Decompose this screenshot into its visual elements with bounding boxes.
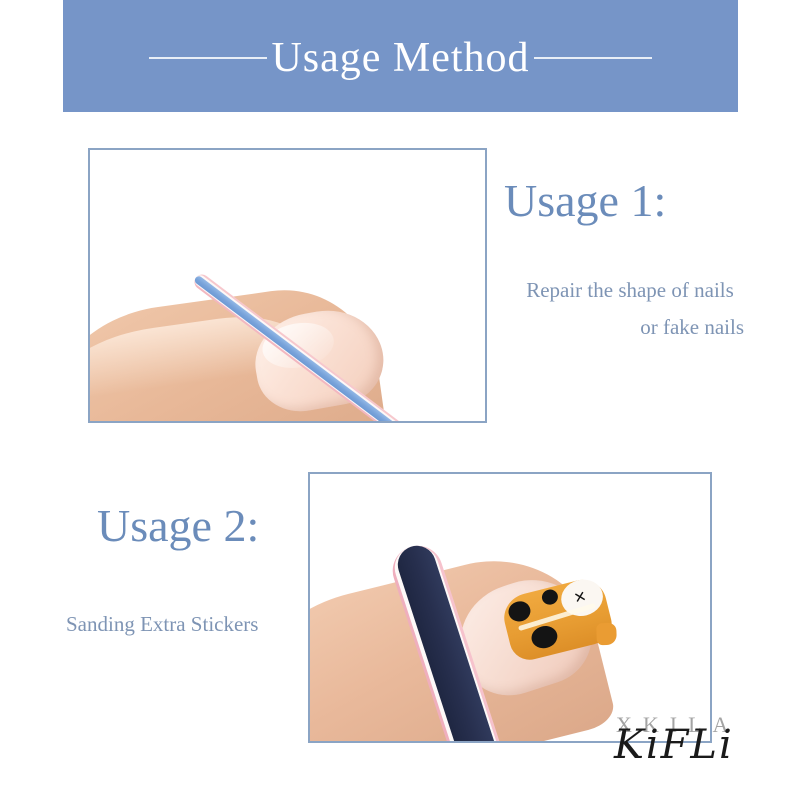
- usage-1-description-line-2: or fake nails: [504, 309, 756, 346]
- watermark-script-text: KiFLi: [614, 722, 734, 768]
- header-rule-left: [149, 57, 267, 59]
- usage-1-description: Repair the shape of nails or fake nails: [504, 272, 756, 346]
- watermark: XKILA KiFLi: [614, 710, 784, 772]
- usage-1-heading: Usage 1:: [504, 178, 666, 224]
- usage-2-heading: Usage 2:: [97, 503, 259, 549]
- bear-tail: [596, 623, 617, 646]
- usage-2-description: Sanding Extra Stickers: [66, 606, 258, 643]
- header-inner: Usage Method: [63, 37, 738, 79]
- header-banner: Usage Method: [63, 0, 738, 112]
- usage-2-photo-panel: ✕: [308, 472, 712, 743]
- usage-1-description-line-1: Repair the shape of nails: [526, 278, 734, 302]
- usage-1-photo-panel: [88, 148, 487, 423]
- page-title: Usage Method: [267, 37, 533, 79]
- header-rule-right: [534, 57, 652, 59]
